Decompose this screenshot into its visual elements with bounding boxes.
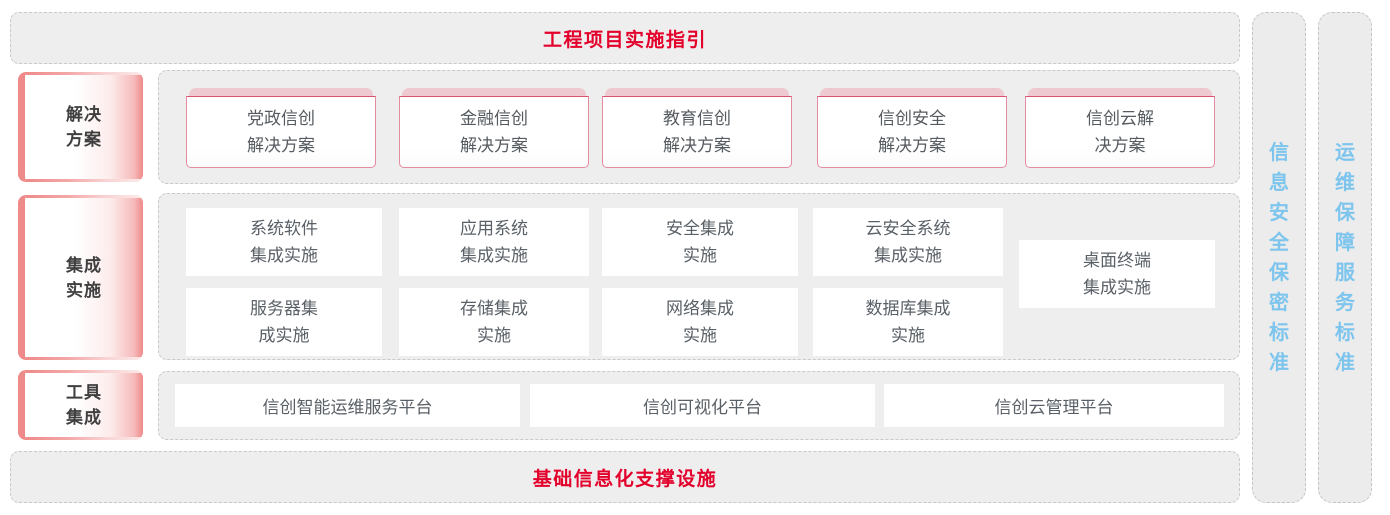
- card-label: 数据库集成 实施: [866, 295, 951, 349]
- integration-card-0[interactable]: 系统软件 集成实施: [186, 208, 382, 276]
- architecture-diagram: 工程项目实施指引 解决 方案 党政信创 解决方案 金融信创 解决方案 教育信创 …: [0, 0, 1390, 515]
- standard-panel-label: 信息安全保密标准: [1267, 138, 1291, 378]
- category-label-solutions[interactable]: 解决 方案: [18, 72, 143, 182]
- header-banner: 工程项目实施指引: [10, 12, 1240, 64]
- integration-card-desktop-terminal[interactable]: 桌面终端 集成实施: [1019, 240, 1215, 308]
- tools-card-2[interactable]: 信创云管理平台: [884, 384, 1224, 427]
- card-label: 桌面终端 集成实施: [1083, 247, 1151, 301]
- category-label-integration[interactable]: 集成 实施: [18, 195, 143, 360]
- solution-card-1[interactable]: 金融信创 解决方案: [399, 88, 589, 168]
- card-label: 应用系统 集成实施: [460, 215, 528, 269]
- card-body: 教育信创 解决方案: [602, 96, 792, 168]
- solution-card-3[interactable]: 信创安全 解决方案: [817, 88, 1007, 168]
- tools-card-1[interactable]: 信创可视化平台: [530, 384, 875, 427]
- card-label: 党政信创 解决方案: [247, 105, 315, 159]
- solution-card-2[interactable]: 教育信创 解决方案: [602, 88, 792, 168]
- category-label-text: 集成 实施: [66, 253, 102, 303]
- category-label-tools[interactable]: 工具 集成: [18, 370, 143, 440]
- card-label: 安全集成 实施: [666, 215, 734, 269]
- card-body: 信创安全 解决方案: [817, 96, 1007, 168]
- card-label: 网络集成 实施: [666, 295, 734, 349]
- card-body: 信创云解 决方案: [1025, 96, 1215, 168]
- integration-card-5[interactable]: 存储集成 实施: [399, 288, 589, 356]
- integration-card-1[interactable]: 应用系统 集成实施: [399, 208, 589, 276]
- category-label-text: 解决 方案: [66, 102, 102, 152]
- card-label: 存储集成 实施: [460, 295, 528, 349]
- category-label-text: 工具 集成: [66, 380, 102, 430]
- integration-card-6[interactable]: 网络集成 实施: [602, 288, 798, 356]
- card-label: 云安全系统 集成实施: [866, 215, 951, 269]
- card-label: 信创智能运维服务平台: [263, 393, 433, 418]
- card-label: 信创可视化平台: [643, 393, 762, 418]
- header-title: 工程项目实施指引: [543, 25, 707, 52]
- card-body: 金融信创 解决方案: [399, 96, 589, 168]
- card-label: 信创云管理平台: [995, 393, 1114, 418]
- card-label: 金融信创 解决方案: [460, 105, 528, 159]
- card-label: 服务器集 成实施: [250, 295, 318, 349]
- card-label: 信创安全 解决方案: [878, 105, 946, 159]
- card-body: 党政信创 解决方案: [186, 96, 376, 168]
- integration-card-4[interactable]: 服务器集 成实施: [186, 288, 382, 356]
- solution-card-0[interactable]: 党政信创 解决方案: [186, 88, 376, 168]
- integration-card-2[interactable]: 安全集成 实施: [602, 208, 798, 276]
- integration-card-3[interactable]: 云安全系统 集成实施: [813, 208, 1003, 276]
- tools-card-0[interactable]: 信创智能运维服务平台: [175, 384, 520, 427]
- standard-panel-operations-support[interactable]: 运维保障服务标准: [1318, 12, 1372, 503]
- card-label: 教育信创 解决方案: [663, 105, 731, 159]
- integration-card-7[interactable]: 数据库集成 实施: [813, 288, 1003, 356]
- standard-panel-information-security[interactable]: 信息安全保密标准: [1252, 12, 1306, 503]
- card-label: 系统软件 集成实施: [250, 215, 318, 269]
- standard-panel-label: 运维保障服务标准: [1333, 138, 1357, 378]
- solution-card-4[interactable]: 信创云解 决方案: [1025, 88, 1215, 168]
- card-label: 信创云解 决方案: [1086, 105, 1154, 159]
- footer-banner: 基础信息化支撑设施: [10, 451, 1240, 503]
- footer-title: 基础信息化支撑设施: [533, 464, 718, 491]
